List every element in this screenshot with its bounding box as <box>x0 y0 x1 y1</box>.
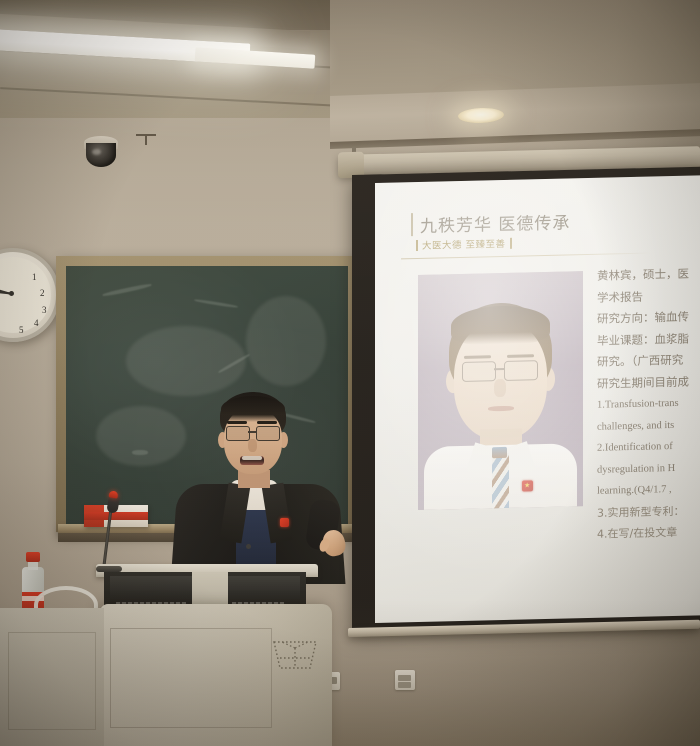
chalk-smudge <box>246 296 326 386</box>
camera-glint <box>92 149 101 155</box>
water-bottle-cap <box>26 552 40 562</box>
slide-line-name: 黄林宾，硕士，医 <box>597 262 700 287</box>
presentation-slide: 九秩芳华 医德传承 大医大德 至臻至善 <box>375 175 700 623</box>
jacket-button <box>246 544 251 549</box>
slide-line-report: 学术报告 <box>597 284 700 309</box>
slide-line-pub2a: 2.Identification of <box>597 434 700 459</box>
slide-title-row: 九秩芳华 医德传承 <box>411 208 570 237</box>
chalk-smudge <box>126 326 246 396</box>
slide-line-study: 研究。（广西研究 <box>597 348 700 373</box>
clock-numeral: 5 <box>19 325 24 335</box>
slide-divider <box>401 252 651 259</box>
slide-subtitle: 大医大德 至臻至善 <box>422 236 506 252</box>
slide-line-patent: 3.实用新型专利： <box>597 499 700 524</box>
eyebrow-left <box>227 421 247 424</box>
chalk-smudge <box>102 283 152 297</box>
eyeglass-bridge <box>248 431 256 433</box>
title-accent-bar <box>411 213 413 236</box>
slide-line-pub2c: learning.(Q4/1.7 , <box>597 477 700 502</box>
portrait-projection-washout <box>418 271 583 510</box>
slide-line-pub1a: 1.Transfusion-trans <box>597 391 700 416</box>
lecture-hall-photo: 1 2 3 4 5 <box>0 0 700 746</box>
slide-line-pub1b: challenges, and its <box>597 413 700 438</box>
clock-numeral: 3 <box>42 305 47 315</box>
lapel-badge-icon <box>280 518 289 527</box>
clock-numeral: 4 <box>34 318 39 328</box>
slide-portrait-photo: ★ <box>418 271 583 510</box>
presenter <box>168 392 358 592</box>
subtitle-accent-bar-left <box>416 239 418 250</box>
eyeglass-lens-right <box>256 426 280 441</box>
slide-line-writing: 4.在写/在投文章 <box>597 520 700 545</box>
floor-shading <box>0 600 700 746</box>
clock-numeral: 2 <box>40 288 45 298</box>
chalk-box-red-stripe <box>84 512 148 520</box>
slide-subtitle-row: 大医大德 至臻至善 <box>412 236 516 252</box>
clock-numeral: 1 <box>32 272 37 282</box>
clock-center-pin <box>9 291 14 296</box>
hair-fringe <box>221 396 285 422</box>
nose <box>248 439 257 452</box>
eyeglass-lens-left <box>226 426 250 441</box>
ceiling-dome-camera-icon <box>86 143 116 167</box>
microphone-base <box>96 566 122 572</box>
ceiling-hook-stem <box>145 134 147 145</box>
teeth <box>242 456 262 460</box>
subtitle-accent-bar-right <box>510 237 512 248</box>
chalk-smudge <box>132 450 148 455</box>
eyebrow-right <box>257 421 277 424</box>
slide-line-progress: 研究生期间目前成 <box>597 370 700 395</box>
slide-line-pub2b: dysregulation in H <box>597 456 700 481</box>
slide-line-thesis: 毕业课题：血浆脂 <box>597 327 700 352</box>
slide-text-column: 黄林宾，硕士，医 学术报告 研究方向：输血传 毕业课题：血浆脂 研究。（广西研究… <box>597 262 700 544</box>
slide-title: 九秩芳华 医德传承 <box>420 208 570 237</box>
chalk-smudge <box>194 299 238 309</box>
projector-screen: 九秩芳华 医德传承 大医大德 至臻至善 <box>375 175 700 623</box>
slide-line-field: 研究方向：输血传 <box>597 305 700 330</box>
